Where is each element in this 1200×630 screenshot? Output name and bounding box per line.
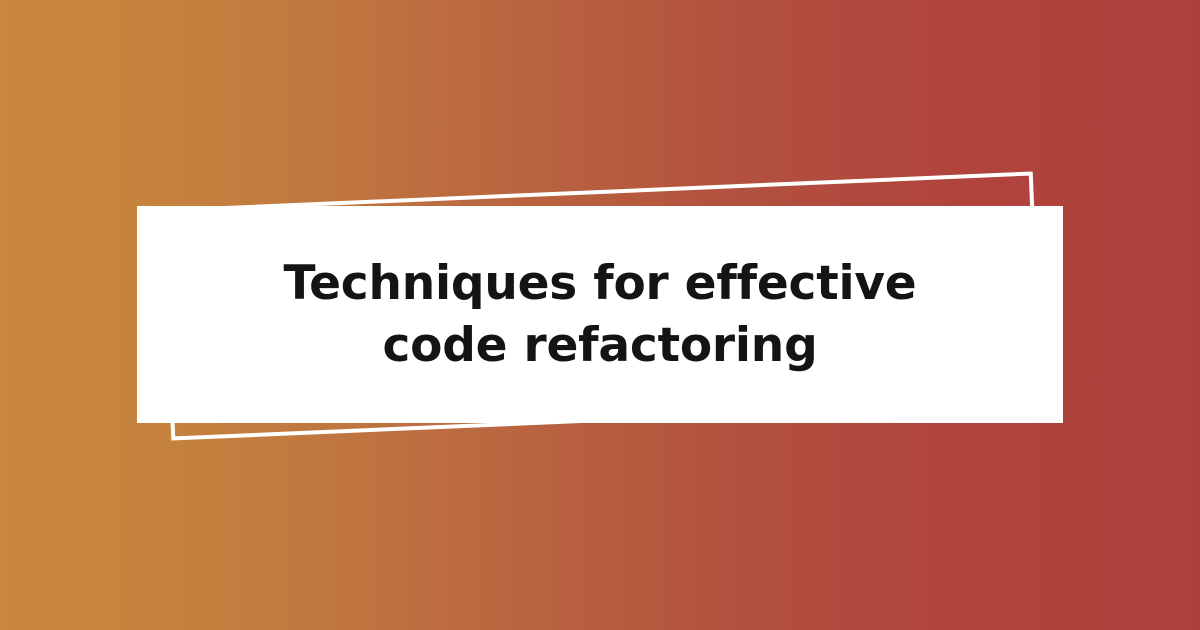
banner-container: Techniques for effective code refactorin…: [0, 0, 1200, 630]
title-card: Techniques for effective code refactorin…: [137, 206, 1063, 423]
page-title: Techniques for effective code refactorin…: [244, 253, 957, 377]
